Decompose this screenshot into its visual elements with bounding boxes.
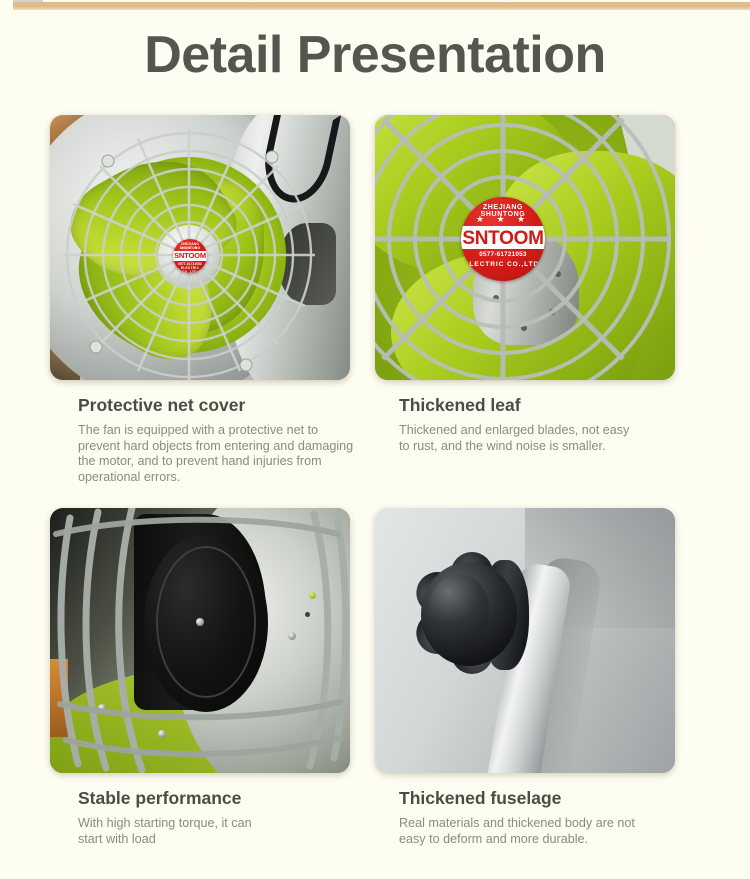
feature-title: Stable performance — [78, 787, 375, 809]
feature-body: The fan is equipped with a protective ne… — [78, 416, 375, 485]
feature-row-1: ZHEJIANG SHUNTONG ★ ★ ★ SNTOOM 0577-6172… — [0, 115, 750, 485]
feature-caption: Thickened leaf Thickened and enlarged bl… — [375, 380, 750, 454]
thickened-body-knob-photo[interactable] — [375, 508, 675, 773]
feature-title: Protective net cover — [78, 394, 375, 416]
feature-cell-thickened-leaf: ZHEJIANG SHUNTONG ★ ★ ★ SNTOOM 0577-6172… — [375, 115, 750, 485]
label-stars: ★ ★ ★ — [461, 214, 545, 225]
thickened-blade-photo[interactable]: ZHEJIANG SHUNTONG ★ ★ ★ SNTOOM 0577-6172… — [375, 115, 675, 380]
label-brand-name: SNTOOM — [461, 228, 545, 250]
feature-title: Thickened leaf — [399, 394, 750, 416]
label-arc-bottom: ELECTRIC CO.,LTD. — [461, 261, 545, 268]
top-bar-strip — [13, 2, 750, 10]
feature-caption: Protective net cover The fan is equipped… — [0, 380, 375, 485]
feature-grid: ZHEJIANG SHUNTONG ★ ★ ★ SNTOOM 0577-6172… — [0, 115, 750, 848]
feature-body: Thickened and enlarged blades, not easy … — [399, 416, 667, 454]
label-arc-bottom: ELECTRIC CO.,LTD. — [173, 266, 207, 274]
feature-caption: Stable performance With high starting to… — [0, 773, 375, 847]
label-stars: ★ ★ ★ — [173, 246, 207, 250]
top-decorative-bar — [0, 0, 750, 10]
label-brand-name: SNTOOM — [173, 251, 207, 260]
feature-cell-protective-net-cover: ZHEJIANG SHUNTONG ★ ★ ★ SNTOOM 0577-6172… — [0, 115, 375, 485]
wire-guard-bars — [50, 508, 350, 773]
label-phone: 0577-61721053 — [461, 251, 545, 258]
feature-cell-thickened-fuselage: Thickened fuselage Real materials and th… — [375, 508, 750, 847]
fan-with-protective-net-photo[interactable]: ZHEJIANG SHUNTONG ★ ★ ★ SNTOOM 0577-6172… — [50, 115, 350, 380]
hub-brand-label: ZHEJIANG SHUNTONG ★ ★ ★ SNTOOM 0577-6172… — [173, 239, 207, 273]
page-title: Detail Presentation — [0, 24, 750, 86]
feature-body: Real materials and thickened body are no… — [399, 809, 667, 847]
feature-row-2: Stable performance With high starting to… — [0, 508, 750, 847]
feature-title: Thickened fuselage — [399, 787, 750, 809]
feature-cell-stable-performance: Stable performance With high starting to… — [0, 508, 375, 847]
feature-caption: Thickened fuselage Real materials and th… — [375, 773, 750, 847]
motor-housing-photo[interactable] — [50, 508, 350, 773]
feature-body: With high starting torque, it can start … — [78, 809, 375, 847]
knob-cap — [429, 574, 489, 646]
hub-brand-label: ZHEJIANG SHUNTONG ★ ★ ★ SNTOOM 0577-6172… — [461, 197, 545, 281]
